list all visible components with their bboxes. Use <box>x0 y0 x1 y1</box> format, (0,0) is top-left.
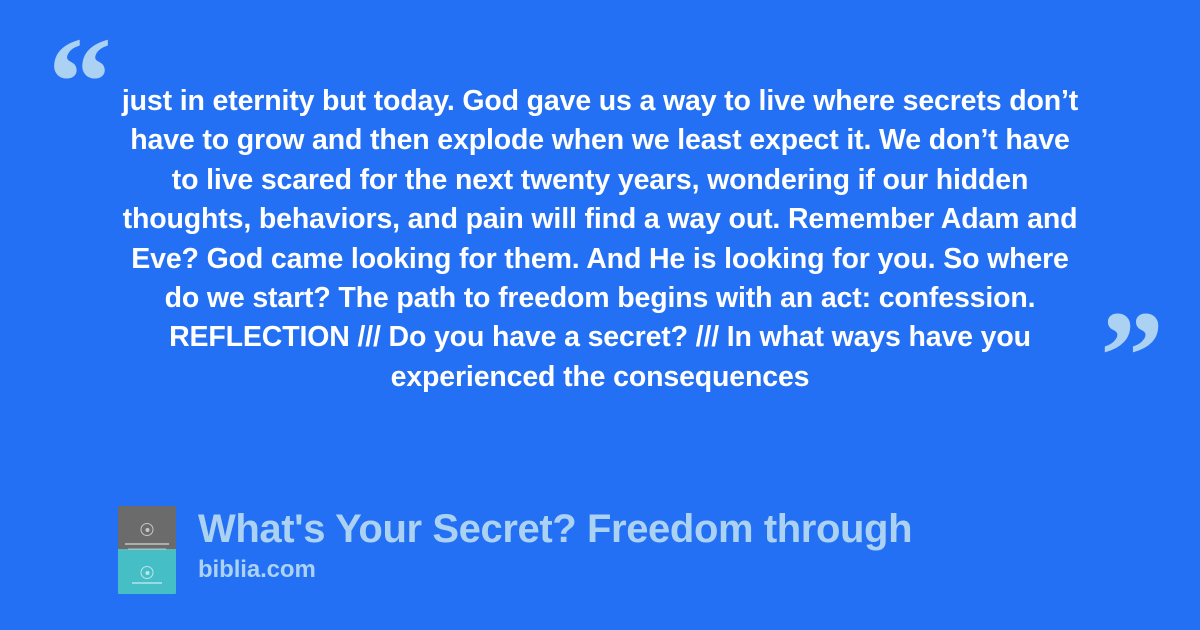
footer: What's Your Secret? Freedom through bibl… <box>118 506 912 594</box>
book-cover-seal-icon-top <box>141 523 154 536</box>
book-cover-author-line <box>132 582 162 584</box>
close-quote-icon: ” <box>1100 292 1164 420</box>
book-cover-seal-icon-bottom <box>141 566 154 579</box>
quote-share-card: “ just in eternity but today. God gave u… <box>0 0 1200 630</box>
quote-text: just in eternity but today. God gave us … <box>120 82 1080 397</box>
book-cover-title-line <box>125 543 169 545</box>
quote-region: “ just in eternity but today. God gave u… <box>0 0 1200 470</box>
open-quote-icon: “ <box>48 18 112 146</box>
site-label[interactable]: biblia.com <box>198 556 912 584</box>
book-cover-subtitle-line <box>128 548 166 550</box>
book-cover-thumbnail[interactable] <box>118 506 176 594</box>
resource-title[interactable]: What's Your Secret? Freedom through <box>198 506 912 552</box>
footer-text-block: What's Your Secret? Freedom through bibl… <box>198 506 912 584</box>
